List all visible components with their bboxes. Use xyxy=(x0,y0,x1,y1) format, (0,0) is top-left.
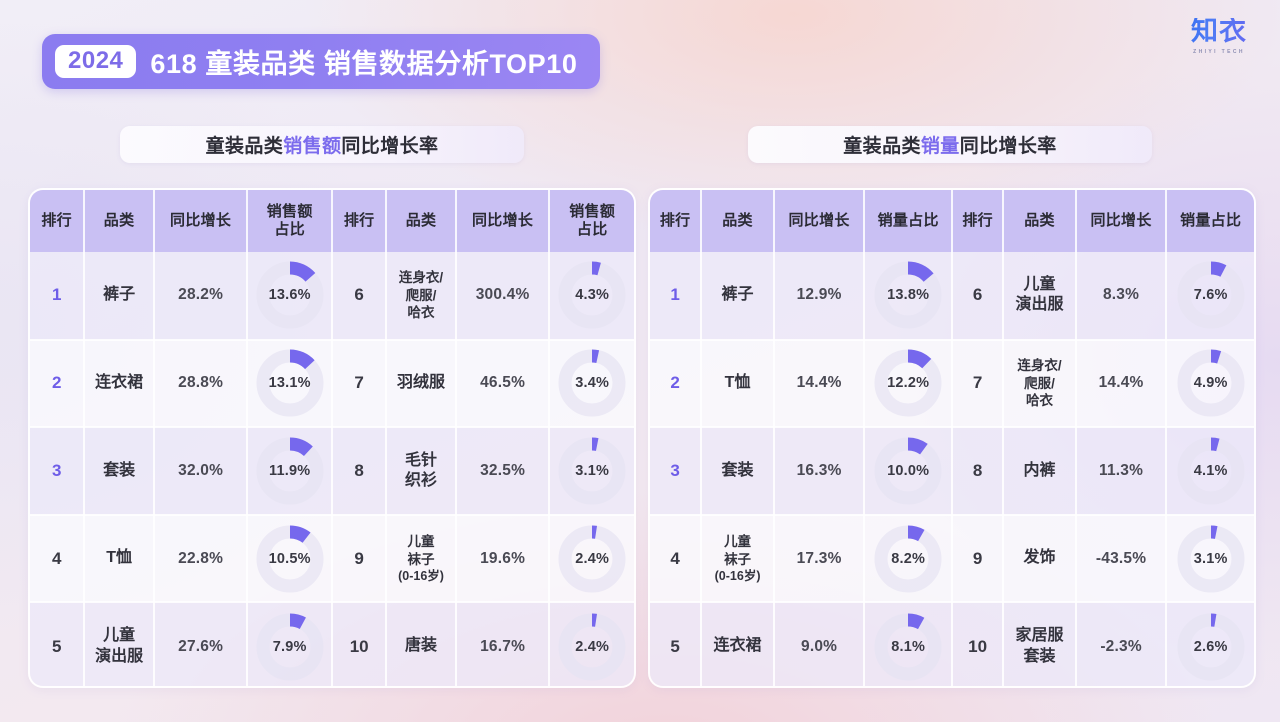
share-donut: 3.1% xyxy=(555,434,629,508)
category-line: 织衫 xyxy=(405,472,437,489)
rank-value: 9 xyxy=(973,549,982,568)
table-header: 排行 品类 同比增长 销售额 占比 排行 品类 同比增长 销售额 占比 xyxy=(30,190,634,252)
growth-value: 16.7% xyxy=(480,638,525,655)
donut-value-label: 11.9% xyxy=(253,463,327,479)
cell-rank: 10 xyxy=(952,602,1003,688)
cell-rank: 8 xyxy=(332,427,386,515)
share-donut: 4.9% xyxy=(1174,346,1248,420)
cell-share: 7.6% xyxy=(1166,252,1254,340)
category-value: 连衣裙 xyxy=(705,636,769,656)
cell-growth: 32.5% xyxy=(456,427,550,515)
growth-value: 8.3% xyxy=(1103,286,1139,303)
category-value: 儿童袜子(0-16岁) xyxy=(390,533,451,584)
table-row: 2T恤14.4%12.2%7连身衣/爬服/哈衣14.4%4.9% xyxy=(650,340,1254,428)
cell-growth: 300.4% xyxy=(456,252,550,340)
cell-rank: 1 xyxy=(30,252,84,340)
cell-growth: 19.6% xyxy=(456,515,550,603)
cell-growth: 46.5% xyxy=(456,340,550,428)
cell-growth: 27.6% xyxy=(154,602,248,688)
category-line: 内裤 xyxy=(1024,462,1056,479)
donut-value-label: 4.3% xyxy=(555,287,629,303)
cell-growth: 8.3% xyxy=(1076,252,1167,340)
section-left-suffix: 同比增长率 xyxy=(341,136,438,157)
col-header-share-a: 销售额 占比 xyxy=(247,190,332,252)
growth-value: 16.3% xyxy=(797,462,842,479)
share-donut: 10.0% xyxy=(871,434,945,508)
category-line: 儿童 xyxy=(103,627,135,644)
category-line: 连衣裙 xyxy=(95,374,143,391)
category-value: 儿童演出服 xyxy=(88,626,149,667)
rank-value: 3 xyxy=(670,461,679,480)
cell-share: 13.1% xyxy=(247,340,332,428)
cell-growth: 14.4% xyxy=(1076,340,1167,428)
col-header-category-a: 品类 xyxy=(84,190,153,252)
cell-category: 连身衣/爬服/哈衣 xyxy=(386,252,455,340)
donut-value-label: 13.8% xyxy=(871,287,945,303)
cell-share: 12.2% xyxy=(864,340,952,428)
cell-category: 毛针织衫 xyxy=(386,427,455,515)
title-year-badge: 2024 xyxy=(55,45,136,79)
donut-value-label: 13.1% xyxy=(253,375,327,391)
category-value: 连衣裙 xyxy=(88,373,149,393)
col-header-rank-a: 排行 xyxy=(650,190,701,252)
cell-growth: 9.0% xyxy=(774,602,865,688)
section-right-accent: 销量 xyxy=(921,136,960,157)
section-right-suffix: 同比增长率 xyxy=(960,136,1057,157)
rank-value: 4 xyxy=(52,549,61,568)
table-header: 排行 品类 同比增长 销量占比 排行 品类 同比增长 销量占比 xyxy=(650,190,1254,252)
share-donut: 13.6% xyxy=(253,258,327,332)
col-header-share-a: 销量占比 xyxy=(864,190,952,252)
category-value: T恤 xyxy=(88,548,149,568)
share-donut: 4.3% xyxy=(555,258,629,332)
table-header-row: 排行 品类 同比增长 销量占比 排行 品类 同比增长 销量占比 xyxy=(650,190,1254,252)
share-donut: 4.1% xyxy=(1174,434,1248,508)
cell-growth: -43.5% xyxy=(1076,515,1167,603)
cell-growth: 32.0% xyxy=(154,427,248,515)
category-line: 羽绒服 xyxy=(397,374,445,391)
table-row: 4儿童袜子(0-16岁)17.3%8.2%9发饰-43.5%3.1% xyxy=(650,515,1254,603)
cell-category: 儿童袜子(0-16岁) xyxy=(701,515,773,603)
rank-value: 9 xyxy=(354,549,363,568)
donut-value-label: 7.6% xyxy=(1174,287,1248,303)
col-header-rank-b: 排行 xyxy=(952,190,1003,252)
cell-rank: 4 xyxy=(650,515,701,603)
category-line: 连身衣/ xyxy=(1017,358,1061,373)
category-value: 唐装 xyxy=(390,636,451,656)
donut-value-label: 4.9% xyxy=(1174,375,1248,391)
cell-share: 3.1% xyxy=(549,427,634,515)
growth-value: 14.4% xyxy=(1099,374,1144,391)
section-header-sales-volume: 童装品类销量同比增长率 xyxy=(748,126,1152,163)
share-donut: 7.9% xyxy=(253,610,327,684)
section-header-right-label: 童装品类销量同比增长率 xyxy=(843,131,1056,158)
section-header-sales-amount: 童装品类销售额同比增长率 xyxy=(120,126,524,163)
table-row: 3套装32.0%11.9%8毛针织衫32.5%3.1% xyxy=(30,427,634,515)
page-title: 618 童装品类 销售数据分析TOP10 xyxy=(150,42,577,81)
growth-value: 17.3% xyxy=(797,550,842,567)
table-row: 4T恤22.8%10.5%9儿童袜子(0-16岁)19.6%2.4% xyxy=(30,515,634,603)
right-table-body: 1裤子12.9%13.8%6儿童演出服8.3%7.6%2T恤14.4%12.2%… xyxy=(650,252,1254,688)
cell-category: 儿童演出服 xyxy=(84,602,153,688)
cell-share: 10.5% xyxy=(247,515,332,603)
cell-category: 裤子 xyxy=(84,252,153,340)
category-value: 儿童袜子(0-16岁) xyxy=(705,533,769,584)
table-row: 5连衣裙9.0%8.1%10家居服套装-2.3%2.6% xyxy=(650,602,1254,688)
cell-growth: 16.7% xyxy=(456,602,550,688)
cell-share: 2.4% xyxy=(549,602,634,688)
growth-value: 14.4% xyxy=(797,374,842,391)
category-line: 裤子 xyxy=(722,286,754,303)
cell-rank: 9 xyxy=(952,515,1003,603)
cell-category: T恤 xyxy=(701,340,773,428)
donut-value-label: 12.2% xyxy=(871,375,945,391)
col-header-growth-a: 同比增长 xyxy=(154,190,248,252)
cell-share: 2.4% xyxy=(549,515,634,603)
category-value: 连身衣/爬服/哈衣 xyxy=(390,269,451,321)
growth-value: 19.6% xyxy=(480,550,525,567)
cell-growth: 17.3% xyxy=(774,515,865,603)
cell-rank: 2 xyxy=(650,340,701,428)
donut-value-label: 2.6% xyxy=(1174,639,1248,655)
category-line: 爬服/ xyxy=(1024,376,1055,391)
growth-value: -43.5% xyxy=(1096,550,1146,567)
growth-value: 32.0% xyxy=(178,462,223,479)
cell-category: 发饰 xyxy=(1003,515,1075,603)
rank-value: 5 xyxy=(52,637,61,656)
cell-rank: 7 xyxy=(952,340,1003,428)
category-value: 毛针织衫 xyxy=(390,451,451,492)
rank-value: 10 xyxy=(968,637,987,656)
cell-growth: 28.2% xyxy=(154,252,248,340)
growth-value: -2.3% xyxy=(1100,638,1142,655)
category-line: 儿童 xyxy=(724,534,751,549)
title-banner: 2024 618 童装品类 销售数据分析TOP10 xyxy=(42,34,600,89)
category-value: T恤 xyxy=(705,373,769,393)
cell-share: 8.1% xyxy=(864,602,952,688)
growth-value: 12.9% xyxy=(797,286,842,303)
cell-growth: 16.3% xyxy=(774,427,865,515)
cell-category: 套装 xyxy=(701,427,773,515)
col-header-growth-a: 同比增长 xyxy=(774,190,865,252)
growth-value: 27.6% xyxy=(178,638,223,655)
cell-growth: 28.8% xyxy=(154,340,248,428)
rank-value: 1 xyxy=(52,285,61,304)
rank-value: 2 xyxy=(670,373,679,392)
table-row: 1裤子12.9%13.8%6儿童演出服8.3%7.6% xyxy=(650,252,1254,340)
growth-value: 11.3% xyxy=(1099,462,1143,479)
share-donut: 3.1% xyxy=(1174,522,1248,596)
donut-value-label: 4.1% xyxy=(1174,463,1248,479)
category-line: 套装 xyxy=(1024,648,1056,665)
donut-value-label: 3.1% xyxy=(555,463,629,479)
rank-value: 7 xyxy=(973,373,982,392)
cell-category: 套装 xyxy=(84,427,153,515)
col-header-rank-b: 排行 xyxy=(332,190,386,252)
donut-value-label: 3.4% xyxy=(555,375,629,391)
category-line: 裤子 xyxy=(103,286,135,303)
rank-value: 8 xyxy=(354,461,363,480)
category-value: 连身衣/爬服/哈衣 xyxy=(1007,357,1071,409)
category-value: 儿童演出服 xyxy=(1007,275,1071,316)
cell-share: 10.0% xyxy=(864,427,952,515)
cell-rank: 9 xyxy=(332,515,386,603)
share-donut: 13.1% xyxy=(253,346,327,420)
share-donut: 2.6% xyxy=(1174,610,1248,684)
cell-growth: 22.8% xyxy=(154,515,248,603)
col-header-share-b: 销量占比 xyxy=(1166,190,1254,252)
category-line: 儿童 xyxy=(408,534,435,549)
cell-rank: 5 xyxy=(650,602,701,688)
category-line: 爬服/ xyxy=(406,288,437,303)
sales-volume-table-card: 排行 品类 同比增长 销量占比 排行 品类 同比增长 销量占比 1裤子12.9%… xyxy=(648,188,1256,688)
cell-category: 家居服套装 xyxy=(1003,602,1075,688)
section-header-left-label: 童装品类销售额同比增长率 xyxy=(206,131,439,158)
category-line: 连身衣/ xyxy=(399,270,443,285)
rank-value: 6 xyxy=(354,285,363,304)
growth-value: 32.5% xyxy=(480,462,525,479)
share-donut: 10.5% xyxy=(253,522,327,596)
col-header-share-a-line2: 占比 xyxy=(274,221,305,238)
category-line: 哈衣 xyxy=(1026,393,1053,408)
category-value: 家居服套装 xyxy=(1007,626,1071,667)
share-donut: 8.2% xyxy=(871,522,945,596)
cell-growth: 12.9% xyxy=(774,252,865,340)
cell-share: 13.8% xyxy=(864,252,952,340)
donut-value-label: 10.0% xyxy=(871,463,945,479)
cell-category: 连衣裙 xyxy=(701,602,773,688)
share-donut: 3.4% xyxy=(555,346,629,420)
category-line: 演出服 xyxy=(1016,296,1064,313)
category-line: 演出服 xyxy=(95,648,143,665)
cell-share: 13.6% xyxy=(247,252,332,340)
category-value: 羽绒服 xyxy=(390,373,451,393)
growth-value: 22.8% xyxy=(178,550,223,567)
share-donut: 2.4% xyxy=(555,522,629,596)
growth-value: 28.2% xyxy=(178,286,223,303)
donut-value-label: 7.9% xyxy=(253,639,327,655)
cell-category: 连身衣/爬服/哈衣 xyxy=(1003,340,1075,428)
share-donut: 2.4% xyxy=(555,610,629,684)
table-row: 1裤子28.2%13.6%6连身衣/爬服/哈衣300.4%4.3% xyxy=(30,252,634,340)
category-value: 裤子 xyxy=(705,285,769,305)
cell-rank: 2 xyxy=(30,340,84,428)
category-line: 连衣裙 xyxy=(714,637,762,654)
growth-value: 9.0% xyxy=(801,638,837,655)
category-line: 套装 xyxy=(722,462,754,479)
cell-share: 4.3% xyxy=(549,252,634,340)
cell-growth: -2.3% xyxy=(1076,602,1167,688)
rank-value: 7 xyxy=(354,373,363,392)
cell-growth: 11.3% xyxy=(1076,427,1167,515)
category-line: 唐装 xyxy=(405,637,437,654)
share-donut: 11.9% xyxy=(253,434,327,508)
category-value: 发饰 xyxy=(1007,548,1071,568)
section-left-prefix: 童装品类 xyxy=(206,136,284,157)
col-header-share-b-line1: 销售额 xyxy=(569,203,615,220)
cell-share: 2.6% xyxy=(1166,602,1254,688)
rank-value: 3 xyxy=(52,461,61,480)
col-header-rank-a: 排行 xyxy=(30,190,84,252)
growth-value: 46.5% xyxy=(480,374,525,391)
donut-value-label: 2.4% xyxy=(555,551,629,567)
cell-category: 羽绒服 xyxy=(386,340,455,428)
cell-rank: 7 xyxy=(332,340,386,428)
table-row: 2连衣裙28.8%13.1%7羽绒服46.5%3.4% xyxy=(30,340,634,428)
cell-share: 11.9% xyxy=(247,427,332,515)
col-header-category-b: 品类 xyxy=(386,190,455,252)
rank-value: 1 xyxy=(670,285,679,304)
cell-rank: 6 xyxy=(332,252,386,340)
left-table-body: 1裤子28.2%13.6%6连身衣/爬服/哈衣300.4%4.3%2连衣裙28.… xyxy=(30,252,634,688)
col-header-share-b-line2: 占比 xyxy=(577,221,608,238)
cell-rank: 3 xyxy=(30,427,84,515)
share-donut: 13.8% xyxy=(871,258,945,332)
table-header-row: 排行 品类 同比增长 销售额 占比 排行 品类 同比增长 销售额 占比 xyxy=(30,190,634,252)
growth-value: 28.8% xyxy=(178,374,223,391)
rank-value: 8 xyxy=(973,461,982,480)
donut-value-label: 13.6% xyxy=(253,287,327,303)
donut-value-label: 8.2% xyxy=(871,551,945,567)
category-line: 套装 xyxy=(103,462,135,479)
sales-amount-table-card: 排行 品类 同比增长 销售额 占比 排行 品类 同比增长 销售额 占比 1裤子2… xyxy=(28,188,636,688)
cell-category: 儿童袜子(0-16岁) xyxy=(386,515,455,603)
rank-value: 10 xyxy=(350,637,369,656)
cell-rank: 1 xyxy=(650,252,701,340)
section-left-accent: 销售额 xyxy=(283,136,341,157)
col-header-share-b: 销售额 占比 xyxy=(549,190,634,252)
col-header-share-a-line1: 销售额 xyxy=(267,203,313,220)
col-header-growth-b: 同比增长 xyxy=(456,190,550,252)
donut-value-label: 2.4% xyxy=(555,639,629,655)
cell-share: 4.1% xyxy=(1166,427,1254,515)
col-header-category-a: 品类 xyxy=(701,190,773,252)
sales-volume-table: 排行 品类 同比增长 销量占比 排行 品类 同比增长 销量占比 1裤子12.9%… xyxy=(650,190,1254,688)
col-header-growth-b: 同比增长 xyxy=(1076,190,1167,252)
cell-rank: 4 xyxy=(30,515,84,603)
category-line: T恤 xyxy=(725,374,751,391)
sales-amount-table: 排行 品类 同比增长 销售额 占比 排行 品类 同比增长 销售额 占比 1裤子2… xyxy=(30,190,634,688)
cell-category: 儿童演出服 xyxy=(1003,252,1075,340)
category-line: 儿童 xyxy=(1024,276,1056,293)
rank-value: 2 xyxy=(52,373,61,392)
cell-rank: 3 xyxy=(650,427,701,515)
category-value: 内裤 xyxy=(1007,461,1071,481)
cell-share: 3.4% xyxy=(549,340,634,428)
donut-value-label: 10.5% xyxy=(253,551,327,567)
rank-value: 4 xyxy=(670,549,679,568)
share-donut: 8.1% xyxy=(871,610,945,684)
col-header-category-b: 品类 xyxy=(1003,190,1075,252)
category-value: 套装 xyxy=(705,461,769,481)
cell-category: 连衣裙 xyxy=(84,340,153,428)
cell-share: 7.9% xyxy=(247,602,332,688)
logo-wordmark: 知衣 xyxy=(1176,18,1262,45)
rank-value: 6 xyxy=(973,285,982,304)
cell-growth: 14.4% xyxy=(774,340,865,428)
category-line: T恤 xyxy=(106,549,132,566)
cell-share: 3.1% xyxy=(1166,515,1254,603)
cell-category: T恤 xyxy=(84,515,153,603)
share-donut: 12.2% xyxy=(871,346,945,420)
cell-category: 裤子 xyxy=(701,252,773,340)
category-line: 哈衣 xyxy=(408,305,435,320)
cell-rank: 5 xyxy=(30,602,84,688)
rank-value: 5 xyxy=(670,637,679,656)
table-row: 3套装16.3%10.0%8内裤11.3%4.1% xyxy=(650,427,1254,515)
logo-subtitle: ZHIYI TECH xyxy=(1176,49,1262,55)
category-line: 袜子 xyxy=(408,552,435,567)
cell-rank: 10 xyxy=(332,602,386,688)
cell-category: 内裤 xyxy=(1003,427,1075,515)
category-value: 套装 xyxy=(88,461,149,481)
section-right-prefix: 童装品类 xyxy=(843,136,921,157)
donut-value-label: 8.1% xyxy=(871,639,945,655)
cell-share: 8.2% xyxy=(864,515,952,603)
share-donut: 7.6% xyxy=(1174,258,1248,332)
cell-rank: 8 xyxy=(952,427,1003,515)
cell-share: 4.9% xyxy=(1166,340,1254,428)
category-line: 发饰 xyxy=(1024,549,1056,566)
donut-value-label: 3.1% xyxy=(1174,551,1248,567)
cell-category: 唐装 xyxy=(386,602,455,688)
category-line: 家居服 xyxy=(1016,627,1064,644)
category-sub-label: (0-16岁) xyxy=(705,568,769,584)
category-sub-label: (0-16岁) xyxy=(390,568,451,584)
table-row: 5儿童演出服27.6%7.9%10唐装16.7%2.4% xyxy=(30,602,634,688)
category-line: 袜子 xyxy=(724,552,751,567)
category-line: 毛针 xyxy=(405,452,437,469)
cell-rank: 6 xyxy=(952,252,1003,340)
growth-value: 300.4% xyxy=(476,286,530,303)
brand-logo: 知衣 ZHIYI TECH xyxy=(1176,18,1262,55)
category-value: 裤子 xyxy=(88,285,149,305)
